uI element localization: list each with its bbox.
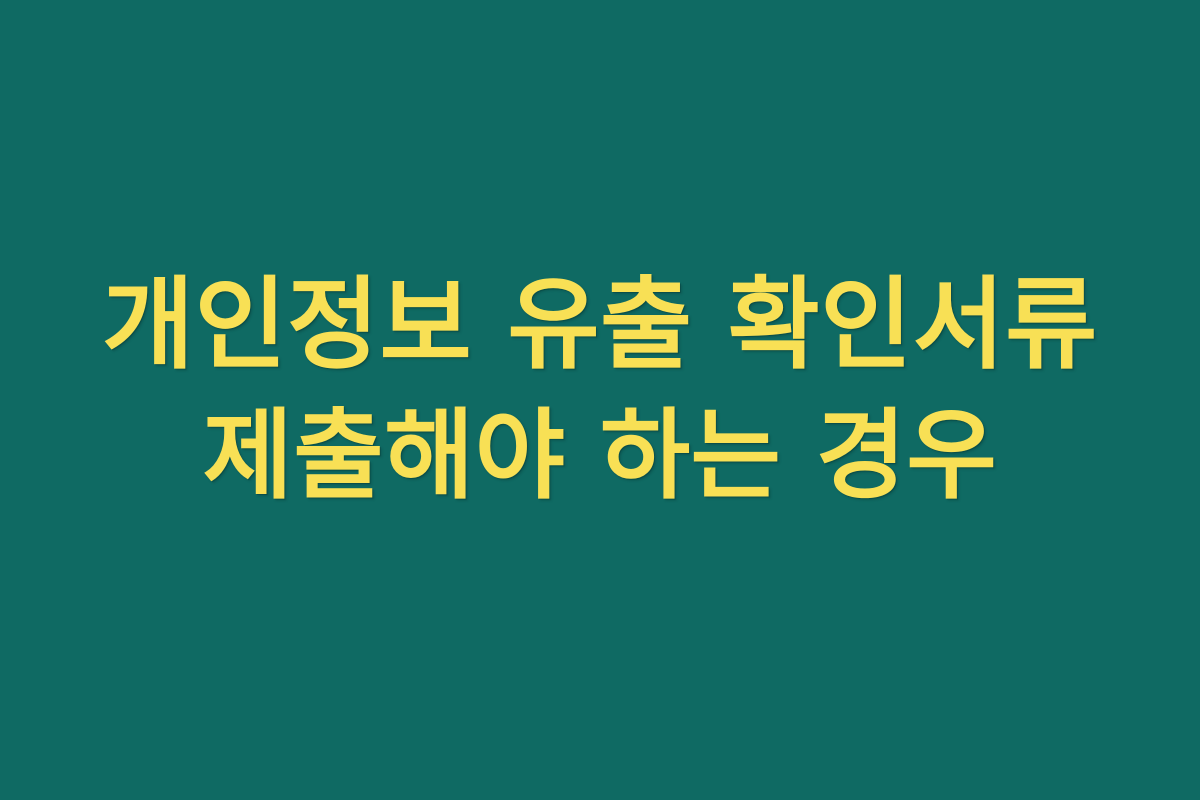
headline-line-2: 제출해야 하는 경우 <box>40 391 1160 521</box>
headline-line-1: 개인정보 유출 확인서류 <box>40 258 1160 391</box>
headline-block: 개인정보 유출 확인서류 제출해야 하는 경우 <box>0 258 1200 521</box>
banner-background: 개인정보 유출 확인서류 제출해야 하는 경우 <box>0 0 1200 800</box>
